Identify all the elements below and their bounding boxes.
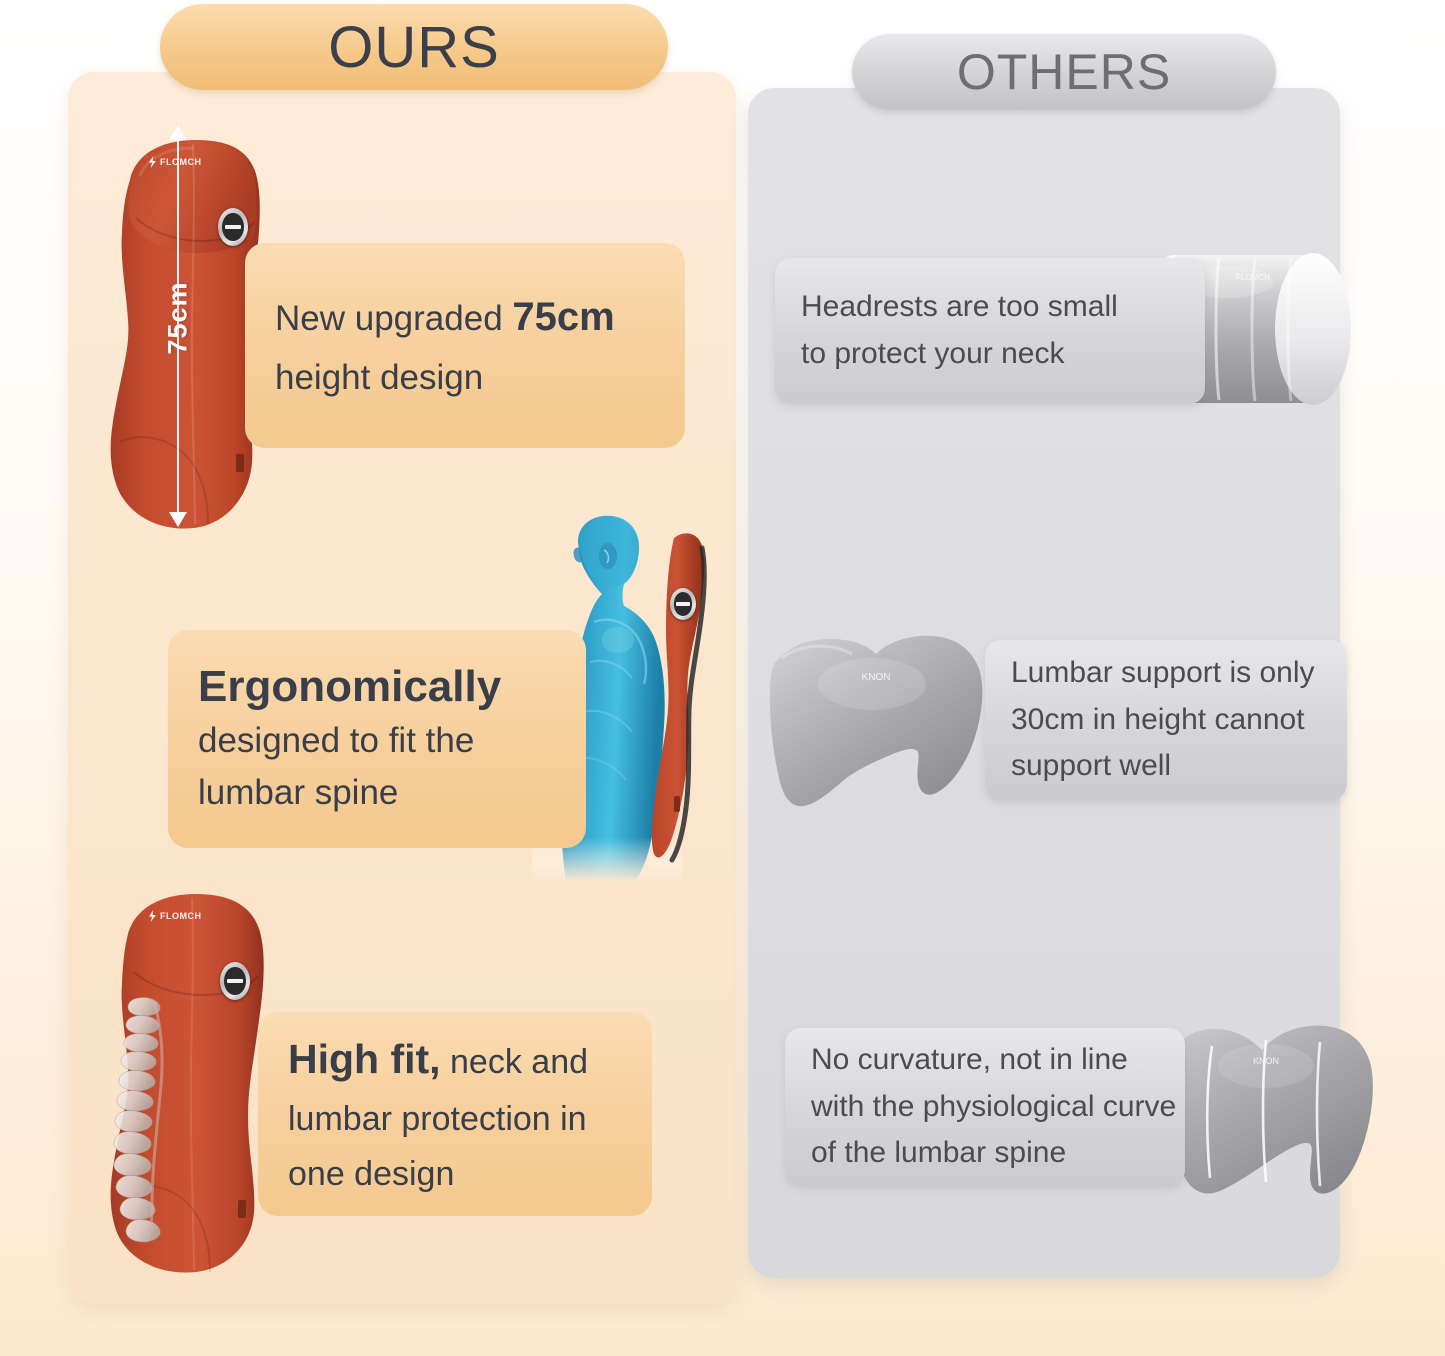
callout-line-1: Lumbar support is only: [1011, 650, 1321, 697]
callout-line-3: lumbar spine: [198, 767, 556, 819]
callout-line-1: High fit, neck and: [288, 1026, 622, 1092]
spine-overlay-icon: [110, 994, 190, 1246]
product-badge: [220, 962, 250, 1000]
callout-highlight: 75cm: [512, 295, 614, 339]
svg-text:FLOMCH: FLOMCH: [1236, 273, 1270, 282]
product-badge-side: [670, 588, 696, 620]
callout-line-1: Headrests are too small: [801, 284, 1179, 331]
callout-ergonomic: Ergonomically designed to fit the lumbar…: [168, 630, 586, 848]
callout-line-3: of the lumbar spine: [811, 1130, 1159, 1177]
callout-line-2: 30cm in height cannot: [1011, 697, 1321, 744]
callout-line-3: one design: [288, 1147, 622, 1202]
bolt-icon: [148, 156, 157, 168]
product-red-cushion-side: [646, 528, 718, 864]
svg-text:KNON: KNON: [862, 672, 891, 683]
callout-line-2: height design: [275, 350, 655, 407]
callout-line-2: designed to fit the: [198, 715, 556, 767]
callout-emphasis: High fit,: [288, 1036, 441, 1082]
brand-logo-text: FLOMCH: [160, 911, 202, 921]
bolt-icon: [148, 910, 157, 922]
brand-logo: FLOMCH: [148, 910, 202, 922]
height-measurement: 75cm: [158, 126, 198, 526]
callout-text-after: neck and: [441, 1043, 588, 1081]
callout-line-2: with the physiological curve: [811, 1084, 1159, 1131]
callout-no-curvature: No curvature, not in line with the physi…: [785, 1028, 1185, 1186]
callout-line-2: to protect your neck: [801, 331, 1179, 378]
callout-text-before: New upgraded: [275, 299, 512, 338]
ours-heading-pill: OURS: [160, 4, 668, 90]
product-badge: [218, 208, 248, 246]
callout-height-design: New upgraded 75cm height design: [245, 243, 685, 448]
callout-line-1: No curvature, not in line: [811, 1037, 1159, 1084]
product-gray-lumbar-cushion: KNON: [752, 624, 996, 820]
callout-high-fit: High fit, neck and lumbar protection in …: [258, 1012, 652, 1216]
callout-line-3: support well: [1011, 743, 1321, 790]
callout-line-2: lumbar protection in: [288, 1092, 622, 1147]
svg-text:KNON: KNON: [1253, 1056, 1279, 1066]
callout-headrest-small: Headrests are too small to protect your …: [775, 258, 1205, 404]
callout-emphasis: Ergonomically: [198, 659, 556, 715]
callout-line-1: New upgraded 75cm: [275, 285, 655, 350]
callout-lumbar-30cm: Lumbar support is only 30cm in height ca…: [985, 640, 1347, 800]
measurement-label: 75cm: [163, 281, 194, 354]
others-heading-text: OTHERS: [957, 43, 1171, 101]
ours-heading-text: OURS: [328, 14, 500, 81]
others-heading-pill: OTHERS: [852, 34, 1276, 110]
